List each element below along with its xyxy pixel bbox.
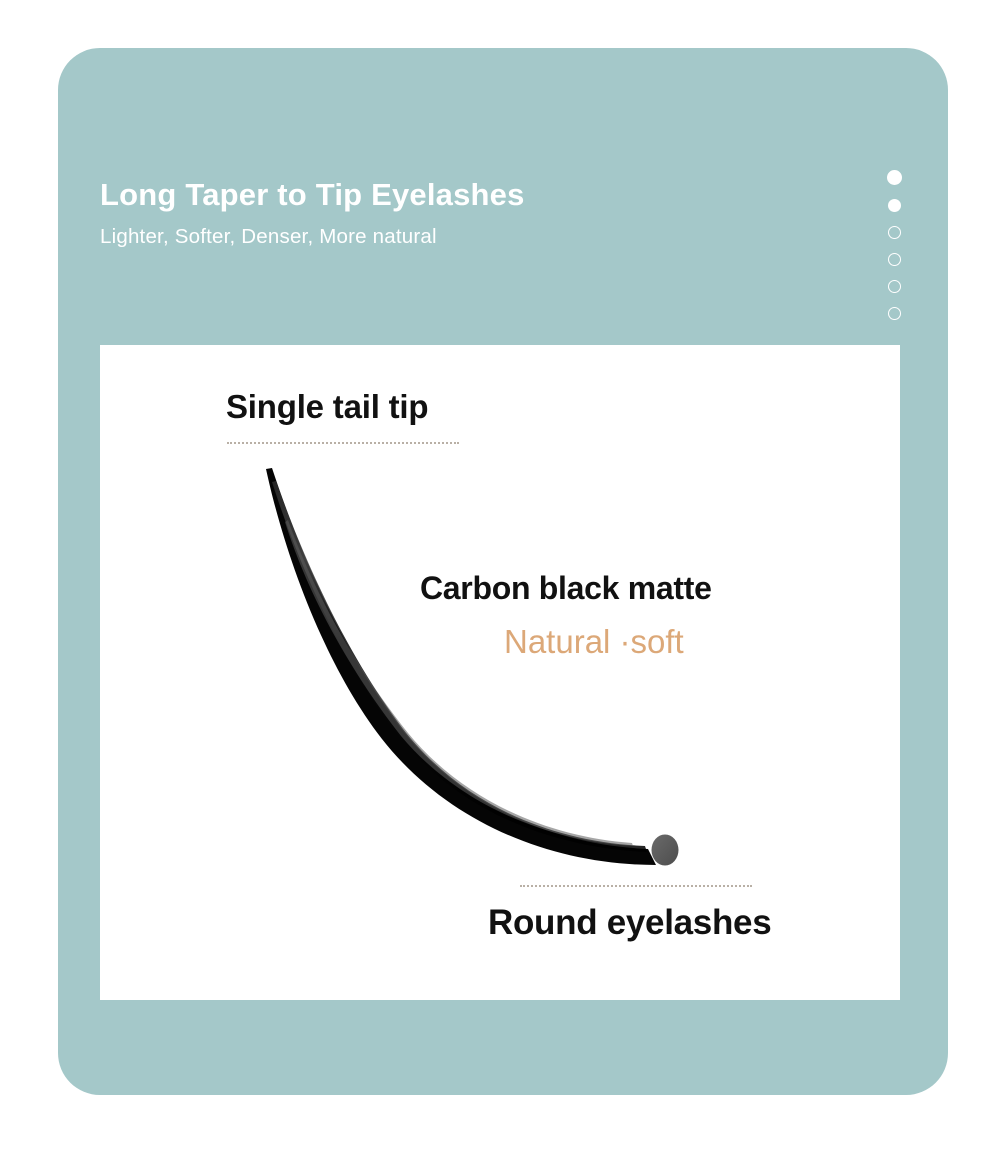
pagination-dots[interactable] [880, 170, 908, 334]
page-title: Long Taper to Tip Eyelashes [100, 176, 525, 213]
lash-round-end-cap [652, 835, 679, 866]
dotted-underline-top [227, 442, 459, 444]
pagination-dot-4[interactable] [888, 253, 901, 266]
lash-fiber-specular [285, 520, 633, 846]
label-round-eyelashes: Round eyelashes [488, 905, 771, 940]
page-subtitle: Lighter, Softer, Denser, More natural [100, 224, 437, 251]
label-natural-soft: Natural ·soft [504, 625, 684, 658]
pagination-dot-3[interactable] [888, 226, 901, 239]
label-carbon-black-matte: Carbon black matte [420, 572, 712, 604]
pagination-dot-1[interactable] [887, 170, 902, 185]
pagination-dot-2[interactable] [888, 199, 901, 212]
lash-fiber-body [266, 468, 656, 865]
dotted-underline-bottom [520, 885, 752, 887]
illustration-panel: Single tail tip Carbon black matte Natur… [100, 345, 900, 1000]
label-single-tail-tip: Single tail tip [226, 390, 428, 423]
eyelash-fiber-illustration [100, 345, 900, 1000]
pagination-dot-5[interactable] [888, 280, 901, 293]
pagination-dot-6[interactable] [888, 307, 901, 320]
lash-fiber-highlight [272, 481, 647, 852]
